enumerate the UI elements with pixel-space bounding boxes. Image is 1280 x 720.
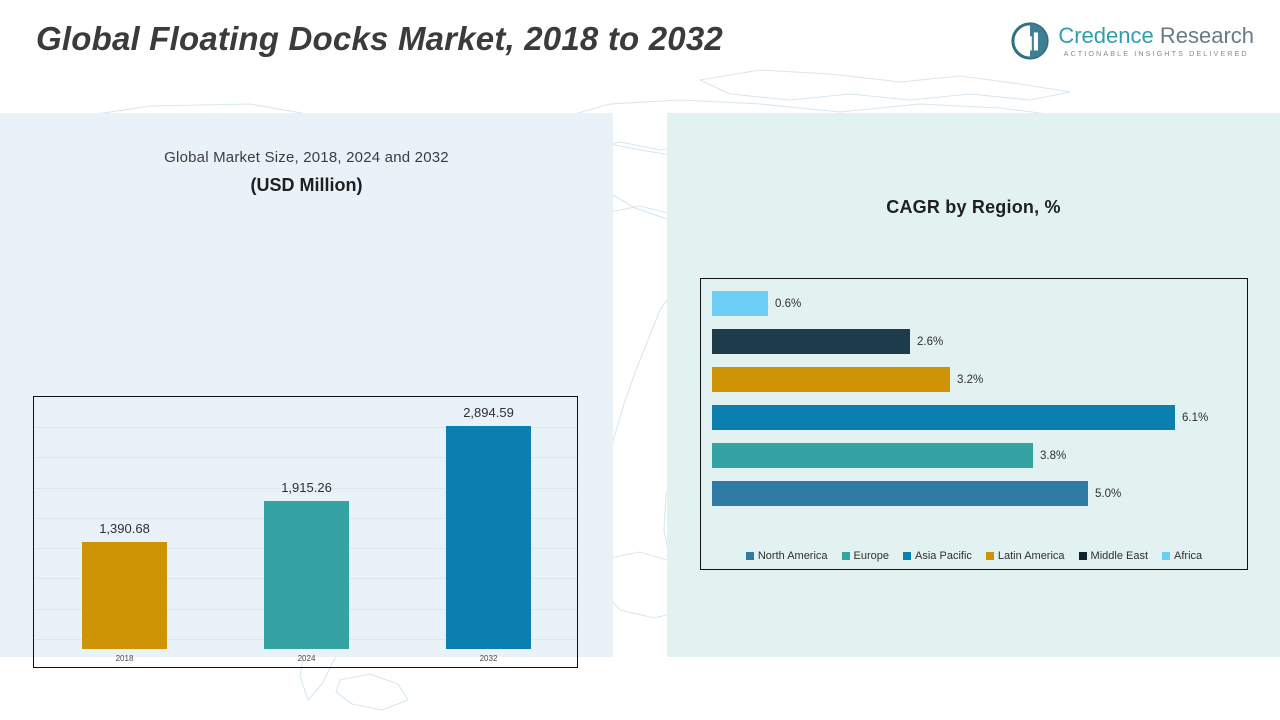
header: Global Floating Docks Market, 2018 to 20…: [0, 0, 1280, 113]
x-axis-tick-label: 2024: [298, 654, 316, 663]
legend-label: North America: [758, 550, 828, 562]
legend-swatch: [842, 552, 850, 560]
bar-value-label: 6.1%: [1182, 412, 1208, 424]
bar-chart-circle-icon: [1011, 22, 1049, 60]
left-chart-heading-line2: (USD Million): [0, 175, 613, 196]
vertical-bars-group: 1,390.6820181,915.2620242,894.592032: [34, 397, 577, 667]
brand-name: Credence Research: [1058, 24, 1254, 47]
bar-rect: [712, 367, 950, 392]
bar-rect: [712, 329, 910, 354]
legend-item: Middle East: [1079, 550, 1148, 562]
legend-item: Asia Pacific: [903, 550, 972, 562]
brand-logo: Credence Research ACTIONABLE INSIGHTS DE…: [1011, 22, 1254, 60]
bar-rect: [712, 443, 1033, 468]
bar-rect: [446, 426, 531, 649]
bar-value-label: 0.6%: [775, 298, 801, 310]
brand-name-part2: Research: [1160, 23, 1254, 48]
chart-legend: North AmericaEuropeAsia PacificLatin Ame…: [701, 550, 1247, 562]
cagr-by-region-bar-chart: 0.6%2.6%3.2%6.1%3.8%5.0% North AmericaEu…: [700, 278, 1248, 570]
right-chart-panel: CAGR by Region, % 0.6%2.6%3.2%6.1%3.8%5.…: [667, 113, 1280, 657]
legend-item: North America: [746, 550, 828, 562]
left-chart-panel: Global Market Size, 2018, 2024 and 2032 …: [0, 113, 613, 657]
legend-swatch: [1162, 552, 1170, 560]
legend-item: Africa: [1162, 550, 1202, 562]
infographic-page: Global Floating Docks Market, 2018 to 20…: [0, 0, 1280, 720]
bar-row: 0.6%: [712, 291, 768, 316]
bar-value-label: 2,894.59: [463, 405, 514, 420]
legend-item: Europe: [842, 550, 889, 562]
legend-label: Middle East: [1091, 550, 1148, 562]
bar-column: 2,894.592032: [446, 426, 531, 649]
bar-value-label: 5.0%: [1095, 488, 1121, 500]
legend-swatch: [1079, 552, 1087, 560]
bar-rect: [712, 405, 1175, 430]
legend-swatch: [986, 552, 994, 560]
page-title: Global Floating Docks Market, 2018 to 20…: [36, 20, 723, 58]
x-axis-tick-label: 2032: [480, 654, 498, 663]
bar-rect: [264, 501, 349, 649]
bar-column: 1,390.682018: [82, 542, 167, 649]
bar-column: 1,915.262024: [264, 501, 349, 649]
x-axis-tick-label: 2018: [116, 654, 134, 663]
bar-rect: [712, 291, 768, 316]
legend-swatch: [903, 552, 911, 560]
brand-name-part1: Credence: [1058, 23, 1153, 48]
legend-label: Europe: [854, 550, 889, 562]
bar-value-label: 3.2%: [957, 374, 983, 386]
bar-row: 6.1%: [712, 405, 1175, 430]
right-chart-heading: CAGR by Region, %: [667, 197, 1280, 218]
bar-value-label: 1,390.68: [99, 521, 150, 536]
legend-label: Africa: [1174, 550, 1202, 562]
brand-tagline: ACTIONABLE INSIGHTS DELIVERED: [1058, 49, 1254, 58]
left-chart-heading-line1: Global Market Size, 2018, 2024 and 2032: [0, 149, 613, 166]
bar-value-label: 1,915.26: [281, 480, 332, 495]
legend-label: Latin America: [998, 550, 1065, 562]
bar-row: 5.0%: [712, 481, 1088, 506]
bar-value-label: 2.6%: [917, 336, 943, 348]
bar-row: 2.6%: [712, 329, 910, 354]
bar-rect: [82, 542, 167, 649]
bar-row: 3.8%: [712, 443, 1033, 468]
legend-item: Latin America: [986, 550, 1065, 562]
bar-value-label: 3.8%: [1040, 450, 1066, 462]
legend-swatch: [746, 552, 754, 560]
horizontal-bars-group: 0.6%2.6%3.2%6.1%3.8%5.0%: [701, 279, 1247, 569]
market-size-bar-chart: 1,390.6820181,915.2620242,894.592032: [33, 396, 578, 668]
bar-rect: [712, 481, 1088, 506]
bar-row: 3.2%: [712, 367, 950, 392]
left-chart-heading: Global Market Size, 2018, 2024 and 2032 …: [0, 149, 613, 196]
legend-label: Asia Pacific: [915, 550, 972, 562]
